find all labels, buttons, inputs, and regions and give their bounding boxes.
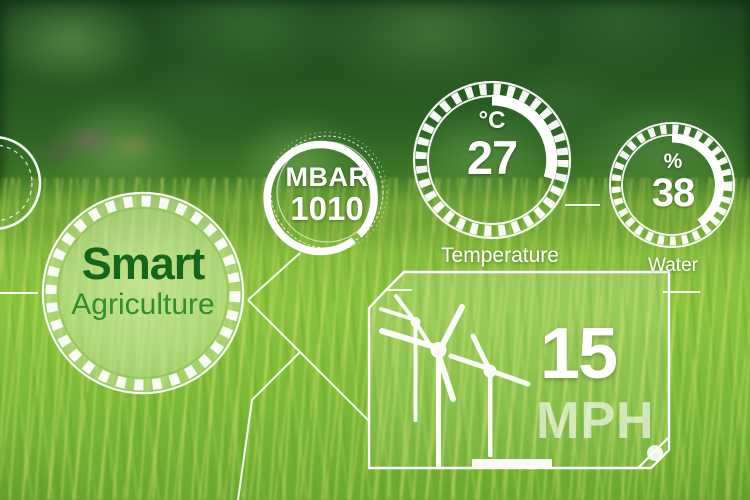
gauge-ring-icon (421, 89, 563, 231)
connector-down (238, 352, 300, 500)
water-gauge[interactable] (610, 123, 734, 247)
temperature-arc (492, 100, 552, 178)
connector-brand-to-pressure (248, 253, 300, 300)
brand-circle[interactable] (43, 193, 243, 393)
wind-speed-value: 15 (540, 318, 660, 390)
edge-gauge-ring (0, 137, 40, 229)
gauge-ring-icon (616, 129, 728, 241)
water-arc (672, 138, 719, 223)
wind-panel-bar (472, 459, 552, 468)
smart-agriculture-hud: MBAR 1010 °C 27 Temperature % 38 Water S… (0, 0, 750, 500)
connector-brand-to-panel (248, 300, 368, 420)
temperature-gauge[interactable] (414, 82, 570, 238)
wind-speed-unit: MPH (536, 395, 676, 447)
pressure-gauge[interactable] (260, 132, 387, 258)
